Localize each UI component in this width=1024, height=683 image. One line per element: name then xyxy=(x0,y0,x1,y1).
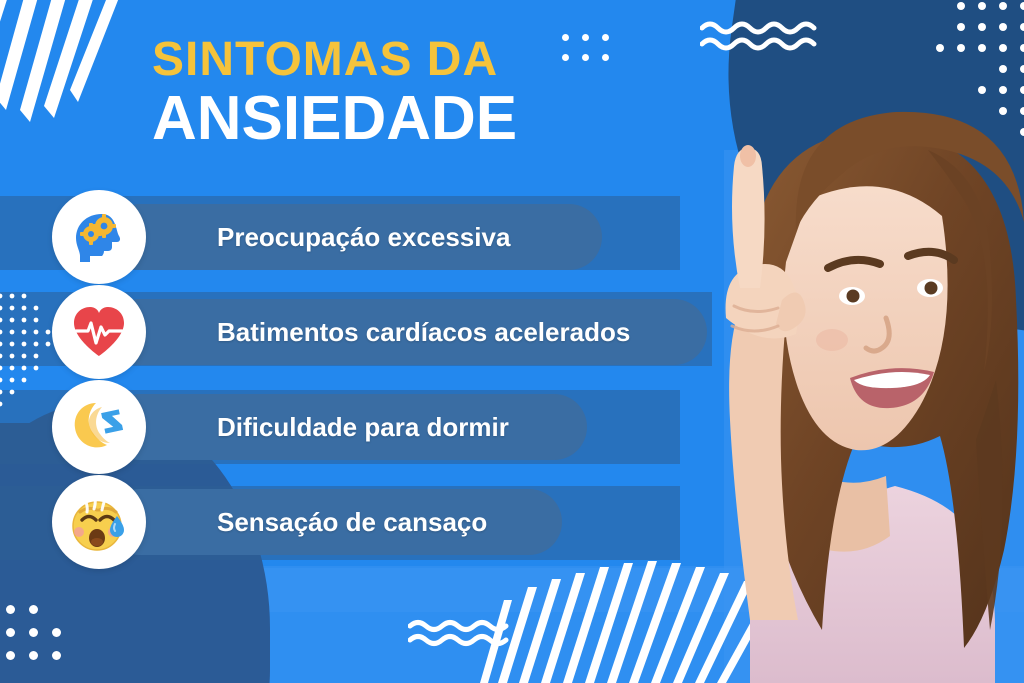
title-line-1: SINTOMAS DA xyxy=(152,34,672,86)
tired-face-icon xyxy=(67,490,131,554)
symptom-badge xyxy=(52,380,146,474)
symptom-badge xyxy=(52,285,146,379)
infographic-poster: SINTOMAS DA ANSIEDADE Preocupaçáo excess… xyxy=(0,0,1024,683)
symptom-pill[interactable]: Dificuldade para dormir xyxy=(107,394,587,460)
page-title: SINTOMAS DA ANSIEDADE xyxy=(152,34,672,150)
heart-pulse-icon xyxy=(70,303,128,361)
symptom-badge xyxy=(52,190,146,284)
moon-sleep-icon xyxy=(69,397,129,457)
symptom-label: Sensaçáo de cansaço xyxy=(217,507,487,538)
symptom-label: Preocupaçáo excessiva xyxy=(217,222,510,253)
symptom-label: Dificuldade para dormir xyxy=(217,412,509,443)
symptom-pill[interactable]: Batimentos cardíacos acelerados xyxy=(107,299,707,365)
title-line-2: ANSIEDADE xyxy=(152,88,672,150)
symptom-label: Batimentos cardíacos acelerados xyxy=(217,317,630,348)
symptom-pill[interactable]: Sensaçáo de cansaço xyxy=(107,489,562,555)
symptom-pill[interactable]: Preocupaçáo excessiva xyxy=(107,204,602,270)
symptom-badge xyxy=(52,475,146,569)
head-gears-icon xyxy=(68,206,130,268)
